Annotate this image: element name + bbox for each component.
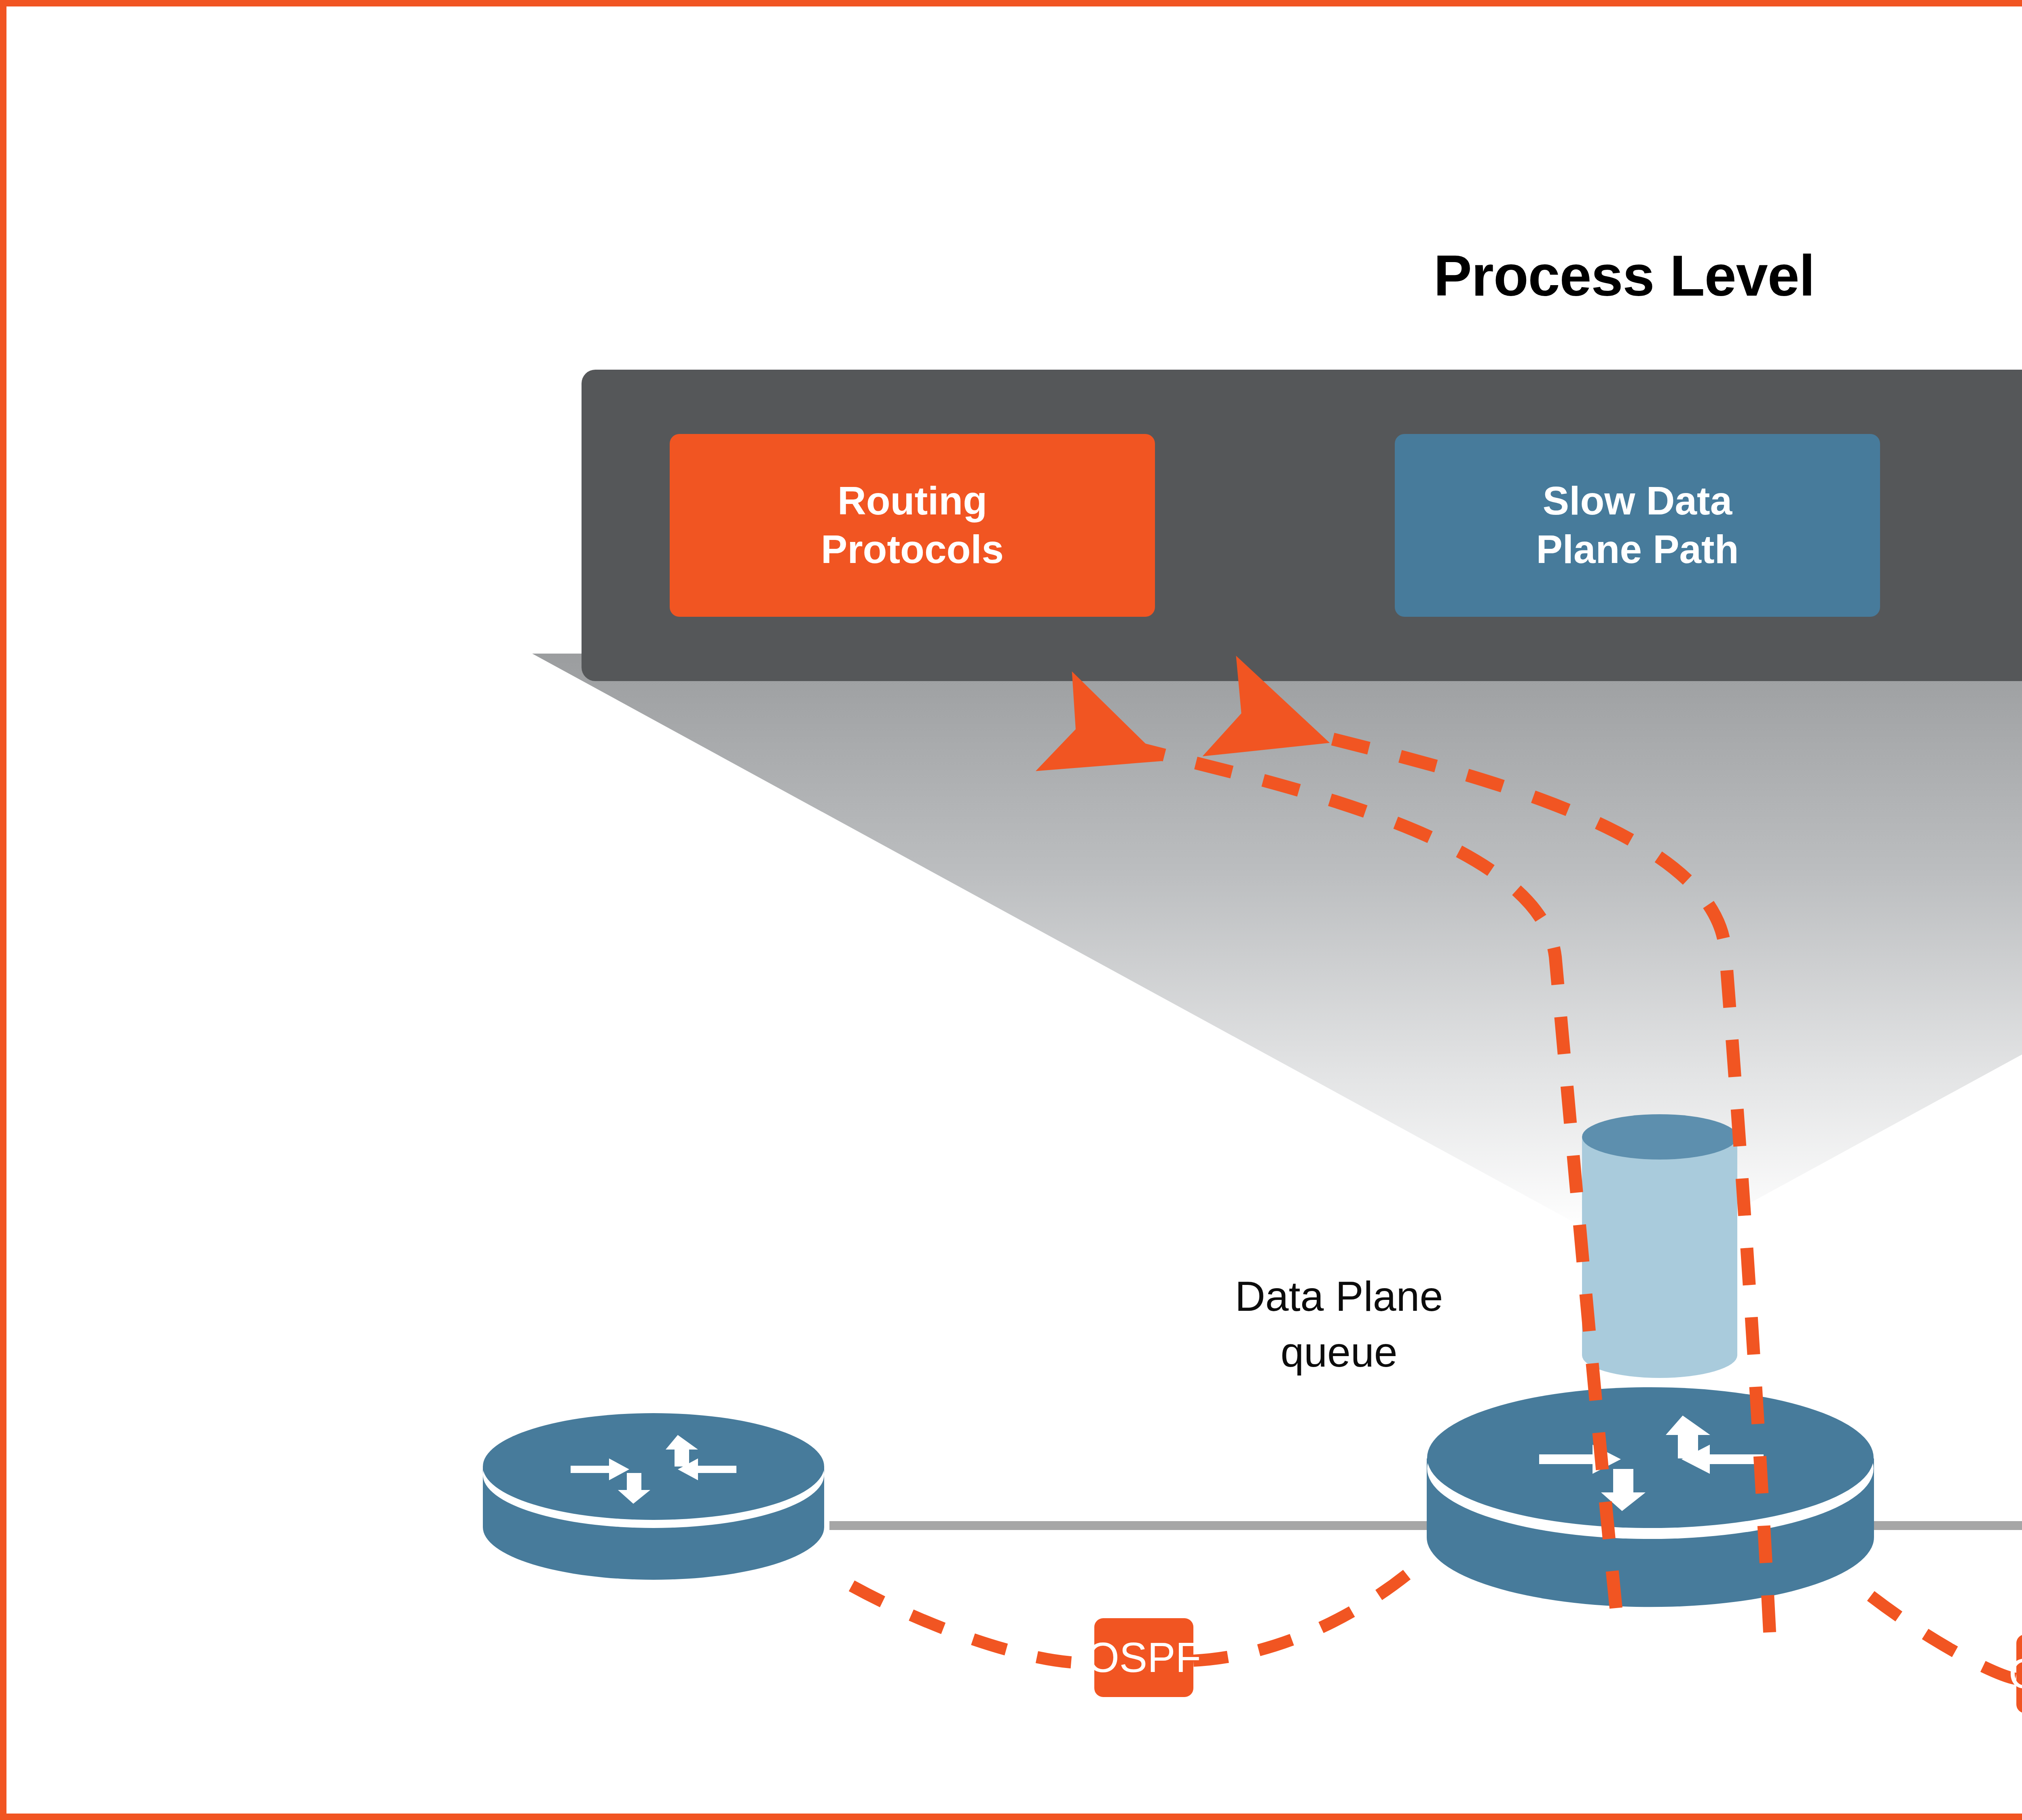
router-center[interactable] (1418, 1382, 1883, 1608)
diagram-canvas: Process Level Routing Protocols (0, 0, 2022, 1820)
process-box-label: Slow Data Plane Path (1536, 477, 1739, 574)
data-plane-queue-label: Data Plane queue (1131, 1268, 1547, 1380)
process-level-container: Routing Protocols Slow Data Plane Path M… (582, 370, 2022, 681)
process-box-slow-data-plane-path[interactable]: Slow Data Plane Path (1395, 434, 1880, 617)
ospf-path-right-a (1871, 1596, 2016, 1679)
data-plane-queue-cylinder (1579, 1113, 1741, 1380)
link-left-to-center (829, 1521, 1436, 1530)
ospf-label-left[interactable]: OSPF (1094, 1618, 1193, 1697)
link-center-to-right (1867, 1521, 2022, 1530)
process-box-routing-protocols[interactable]: Routing Protocols (670, 434, 1155, 617)
ospf-label-right[interactable]: OSPF (2016, 1634, 2022, 1713)
page-title: Process Level (6, 247, 2022, 305)
router-left[interactable] (476, 1410, 831, 1580)
process-box-label: Routing Protocols (821, 477, 1004, 574)
ospf-path-left-b (1193, 1566, 1418, 1661)
ospf-path-left-a (852, 1586, 1094, 1663)
funnel-shape (532, 654, 2022, 1232)
